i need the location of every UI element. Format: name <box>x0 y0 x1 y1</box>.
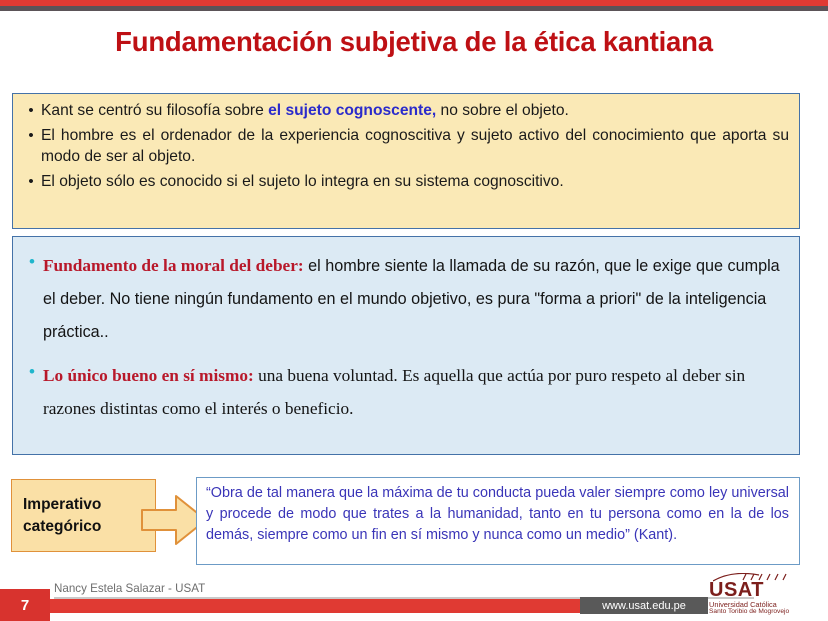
footer-author: Nancy Estela Salazar - USAT <box>54 582 205 595</box>
premises-box: • Kant se centró su filosofía sobre el s… <box>12 93 800 229</box>
premise-text-before: Kant se centró su filosofía sobre <box>41 102 268 119</box>
list-item: • Kant se centró su filosofía sobre el s… <box>21 101 789 121</box>
list-item: • El objeto sólo es conocido si el sujet… <box>21 172 789 192</box>
premise-text: El objeto sólo es conocido si el sujeto … <box>41 172 789 192</box>
morality-box: • Fundamento de la moral del deber: el h… <box>12 236 800 455</box>
footer-url-badge[interactable]: www.usat.edu.pe <box>580 597 708 614</box>
logo-wordmark: USAT <box>709 579 764 602</box>
quote-text: “Obra de tal manera que la máxima de tu … <box>206 483 789 546</box>
list-item: • El hombre es el ordenador de la experi… <box>21 126 789 167</box>
page-title: Fundamentación subjetiva de la ética kan… <box>0 26 828 58</box>
premise-text-after: no sobre el objeto. <box>436 102 569 119</box>
morality-lead: Lo único bueno en sí mismo: <box>43 366 254 385</box>
premise-highlight: el sujeto cognoscente, <box>268 102 436 119</box>
morality-lead: Fundamento de la moral del deber: <box>43 256 304 275</box>
bullet-icon: • <box>21 126 41 146</box>
quote-box: “Obra de tal manera que la máxima de tu … <box>196 477 800 565</box>
list-item: • Lo único bueno en sí mismo: una buena … <box>21 359 787 425</box>
morality-text: Fundamento de la moral del deber: el hom… <box>43 249 787 349</box>
bullet-icon: • <box>21 101 41 121</box>
imperative-callout-line2: categórico <box>23 516 155 538</box>
usat-logo: USAT Universidad Católica Santo Toribio … <box>707 573 807 617</box>
morality-text: Lo único bueno en sí mismo: una buena vo… <box>43 359 787 425</box>
imperative-callout-box: Imperativo categórico <box>11 479 156 552</box>
bullet-icon: • <box>21 249 43 271</box>
slide-number-badge: 7 <box>0 589 50 621</box>
imperative-callout-line1: Imperativo <box>23 494 155 516</box>
footer-url-text: www.usat.edu.pe <box>602 600 686 612</box>
premise-text: El hombre es el ordenador de la experien… <box>41 126 789 167</box>
logo-subtitle-2: Santo Toribio de Mogrovejo <box>709 608 789 615</box>
slide-number: 7 <box>21 597 29 614</box>
list-item: • Fundamento de la moral del deber: el h… <box>21 249 787 349</box>
bullet-icon: • <box>21 172 41 192</box>
top-accent-bar-gray <box>0 6 828 11</box>
bullet-icon: • <box>21 359 43 381</box>
premise-text: Kant se centró su filosofía sobre el suj… <box>41 101 789 121</box>
